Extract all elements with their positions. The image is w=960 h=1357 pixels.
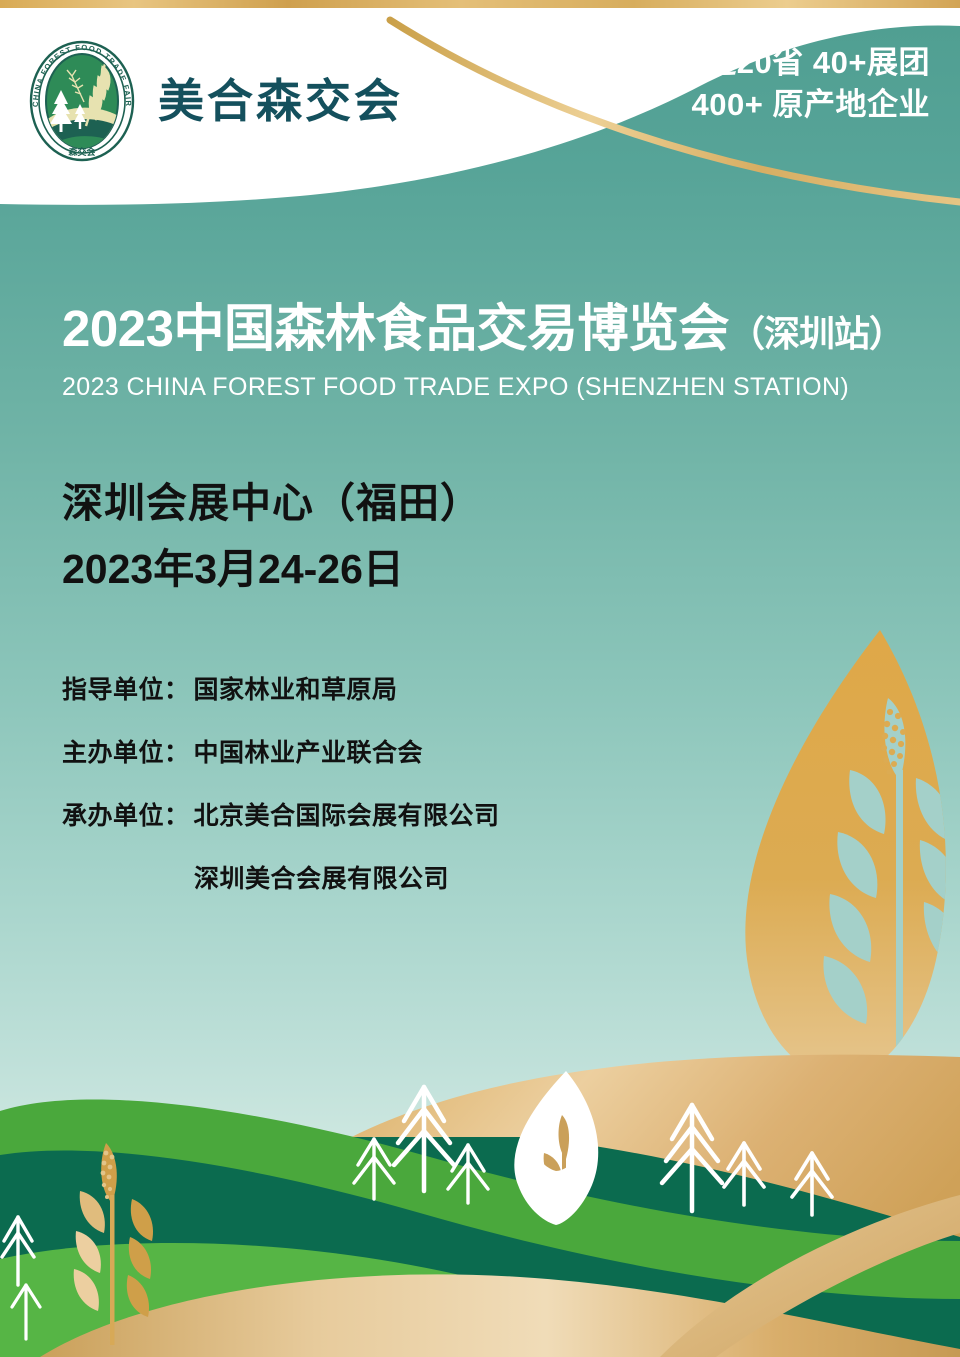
credit-line: 主办单位：中国林业产业联合会 <box>62 741 922 766</box>
header-stat-line-1: 近20省 40+展团 <box>692 42 930 84</box>
credit-label: 承办单位： <box>62 802 190 830</box>
credit-value: 中国林业产业联合会 <box>194 739 424 767</box>
venue-name: 深圳会展中心（福田） <box>62 478 922 529</box>
logo-bottom-label: 森交会 <box>68 146 96 157</box>
credit-line: 指导单位：国家林业和草原局 <box>62 678 922 703</box>
venue-and-date-block: 深圳会展中心（福田） 2023年3月24-26日 <box>62 478 922 594</box>
china-forest-food-trade-fair-logo: CHINA FOREST FOOD TRADE FAIR 森交会 <box>28 40 136 162</box>
page-subtitle: 2023 CHINA FOREST FOOD TRADE EXPO (SHENZ… <box>62 373 922 402</box>
credit-value: 国家林业和草原局 <box>194 676 398 704</box>
credit-label: 指导单位： <box>62 676 190 704</box>
top-gold-bar <box>0 0 960 8</box>
rolling-hills-landscape <box>0 1027 960 1357</box>
credits-block: 指导单位：国家林业和草原局 主办单位：中国林业产业联合会 承办单位：北京美合国际… <box>62 678 922 892</box>
credit-line: 承办单位：北京美合国际会展有限公司 <box>62 804 922 829</box>
credit-label: 主办单位： <box>62 739 190 767</box>
brand-name: 美合森交会 <box>158 78 403 124</box>
header-stat-line-2: 400+ 原产地企业 <box>692 84 930 126</box>
page-title: 2023中国森林食品交易博览会（深圳站） <box>62 300 922 359</box>
title-cn-main: 2023中国森林食品交易博览会 <box>62 300 729 357</box>
brand-lockup: CHINA FOREST FOOD TRADE FAIR 森交会 美合森交会 <box>28 40 403 162</box>
title-cn-suffix: （深圳站） <box>729 313 904 354</box>
main-content: 2023中国森林食品交易博览会（深圳站） 2023 CHINA FOREST F… <box>62 300 922 930</box>
credit-value: 北京美合国际会展有限公司 <box>194 802 500 830</box>
header-stats: 近20省 40+展团 400+ 原产地企业 <box>692 42 930 126</box>
credit-line: 深圳美合会展有限公司 <box>62 867 922 892</box>
credit-value: 深圳美合会展有限公司 <box>194 865 449 893</box>
poster-canvas: CHINA FOREST FOOD TRADE FAIR 森交会 美合森交会 近… <box>0 0 960 1357</box>
event-dates: 2023年3月24-26日 <box>62 545 922 594</box>
